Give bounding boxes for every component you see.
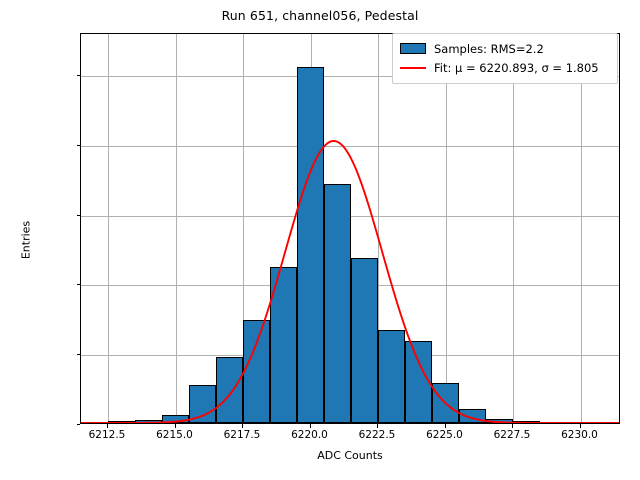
legend-swatch-icon bbox=[400, 43, 426, 54]
y-tick-mark-1 bbox=[77, 354, 81, 355]
x-tick-mark-0 bbox=[107, 424, 108, 428]
chart-title: Run 651, channel056, Pedestal bbox=[0, 8, 640, 23]
x-tick-mark-7 bbox=[580, 424, 581, 428]
y-tick-mark-4 bbox=[77, 145, 81, 146]
x-tick-label: 6217.5 bbox=[224, 429, 261, 441]
x-tick-label: 6215.0 bbox=[156, 429, 193, 441]
legend-line-icon bbox=[400, 61, 426, 74]
x-tick-label: 6227.5 bbox=[494, 429, 531, 441]
x-axis-label: ADC Counts bbox=[80, 449, 620, 462]
x-tick-mark-3 bbox=[310, 424, 311, 428]
x-tick-mark-4 bbox=[377, 424, 378, 428]
x-tick-label: 6212.5 bbox=[89, 429, 126, 441]
y-tick-mark-5 bbox=[77, 75, 81, 76]
plot-area bbox=[80, 33, 620, 424]
x-tick-mark-2 bbox=[242, 424, 243, 428]
x-tick-label: 6230.0 bbox=[561, 429, 598, 441]
legend-item-samples: Samples: RMS=2.2 bbox=[400, 39, 610, 58]
x-tick-label: 6220.0 bbox=[291, 429, 328, 441]
legend-label-samples: Samples: RMS=2.2 bbox=[434, 42, 544, 56]
chart-legend: Samples: RMS=2.2 Fit: μ = 6220.893, σ = … bbox=[392, 33, 618, 84]
x-tick-mark-6 bbox=[512, 424, 513, 428]
gaussian-fit-curve bbox=[81, 34, 619, 423]
legend-item-fit: Fit: μ = 6220.893, σ = 1.805 bbox=[400, 58, 610, 77]
figure-canvas: Run 651, channel056, Pedestal Entries AD… bbox=[0, 0, 640, 480]
y-tick-mark-2 bbox=[77, 284, 81, 285]
y-tick-mark-3 bbox=[77, 215, 81, 216]
legend-label-fit: Fit: μ = 6220.893, σ = 1.805 bbox=[434, 61, 599, 75]
x-tick-mark-5 bbox=[445, 424, 446, 428]
x-tick-label: 6222.5 bbox=[359, 429, 396, 441]
x-tick-label: 6225.0 bbox=[426, 429, 463, 441]
y-tick-mark-0 bbox=[77, 424, 81, 425]
x-tick-mark-1 bbox=[175, 424, 176, 428]
y-axis-label: Entries bbox=[20, 221, 33, 259]
